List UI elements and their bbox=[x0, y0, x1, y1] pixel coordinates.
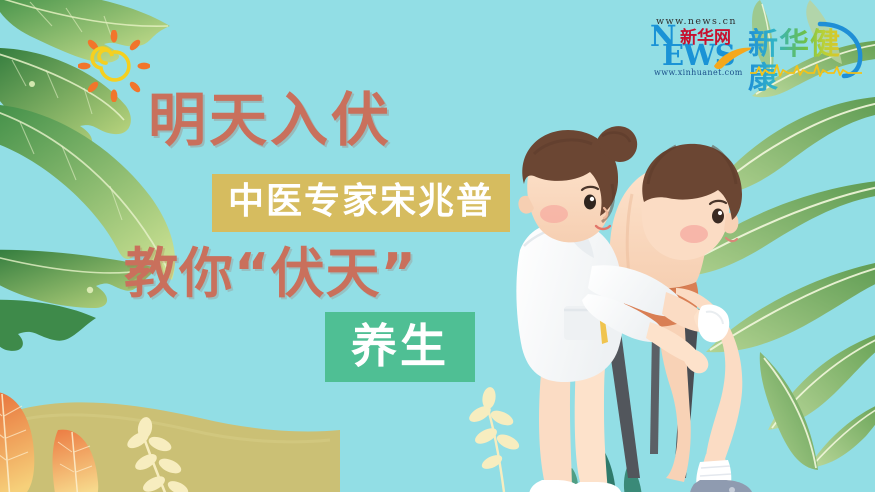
headline-line-1: 明天入伏 bbox=[148, 88, 392, 152]
leaf-orange-bottom-left bbox=[0, 392, 34, 492]
ecg-heartbeat-icon bbox=[750, 62, 862, 78]
gold-banner-label: 中医专家宋兆普 bbox=[228, 181, 494, 222]
xinhua-news-logo[interactable]: www.news.cn N EWS 新华网 www.xinhuanet.com bbox=[650, 16, 754, 76]
sun-doodle bbox=[78, 30, 150, 102]
poster-canvas: 明天入伏 中医专家宋兆普 教你“伏天” 养生 www.news.cn N EWS… bbox=[0, 0, 875, 492]
medicated-patch bbox=[698, 304, 729, 342]
illustration-doctor-and-boy bbox=[480, 110, 800, 492]
green-banner-label: 养生 bbox=[351, 319, 449, 373]
xinhua-url-bottom: www.xinhuanet.com bbox=[654, 68, 743, 77]
green-banner: 养生 bbox=[325, 312, 475, 382]
xinhua-health-logo[interactable]: 新华健康 bbox=[748, 22, 866, 80]
headline-line-2: 教你“伏天” bbox=[124, 243, 417, 305]
gold-banner: 中医专家宋兆普 bbox=[212, 174, 510, 232]
